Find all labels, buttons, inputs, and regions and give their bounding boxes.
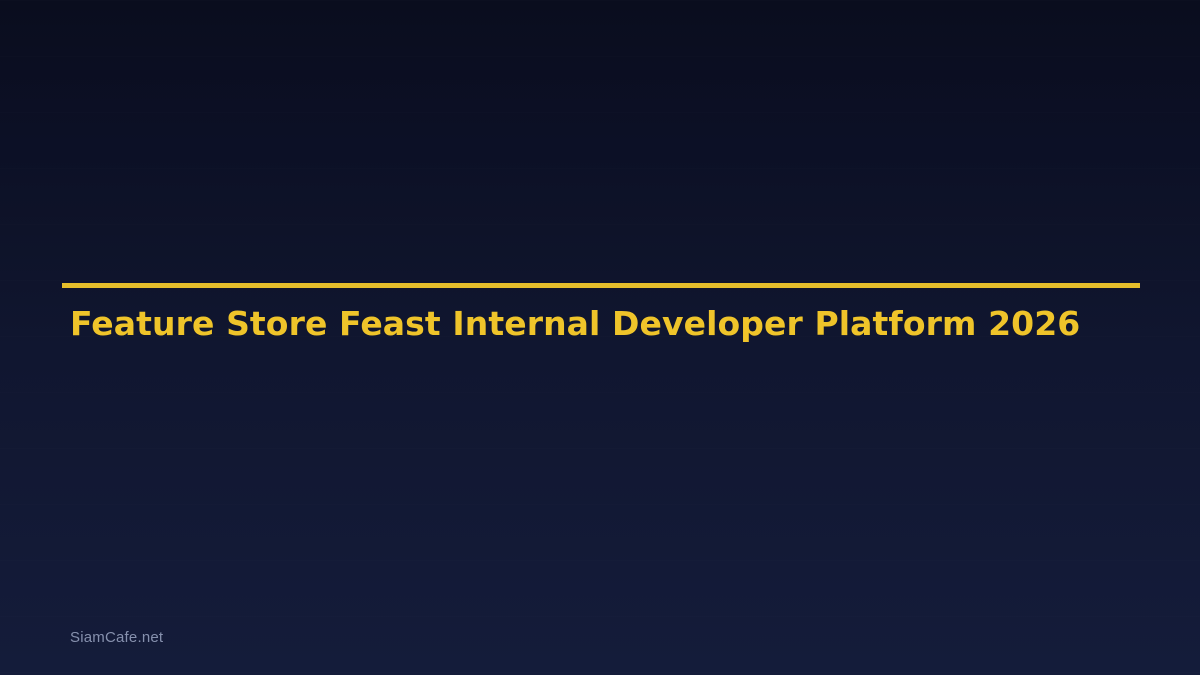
accent-rule (62, 283, 1140, 288)
page-title: Feature Store Feast Internal Developer P… (70, 305, 1140, 343)
title-block: Feature Store Feast Internal Developer P… (62, 283, 1140, 343)
footer-watermark: SiamCafe.net (70, 628, 163, 648)
slide-canvas: Feature Store Feast Internal Developer P… (0, 0, 1200, 675)
